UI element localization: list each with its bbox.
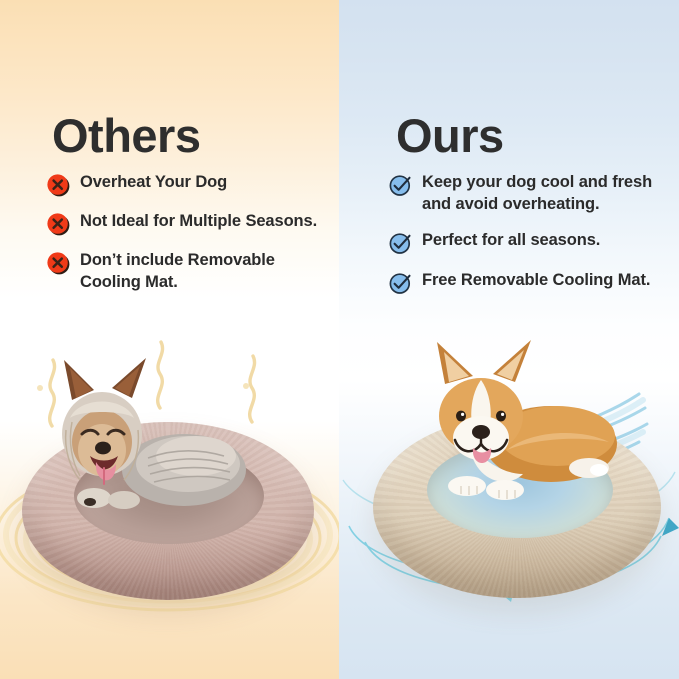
cross-circle-icon [46, 212, 71, 237]
ours-heading: Ours [396, 112, 504, 159]
list-item: Perfect for all seasons. [388, 230, 678, 256]
list-item-label: Don’t include Removable Cooling Mat. [80, 250, 336, 294]
others-illustration [0, 330, 340, 679]
list-item: Free Removable Cooling Mat. [388, 270, 678, 296]
cross-circle-icon [46, 173, 71, 198]
others-bullet-list: Overheat Your Dog Not Ideal for Multiple… [46, 172, 336, 307]
comparison-infographic: Others Overheat Your Dog Not Ideal fo [0, 0, 679, 679]
list-item: Don’t include Removable Cooling Mat. [46, 250, 336, 294]
check-circle-icon [388, 271, 413, 296]
check-circle-icon [388, 173, 413, 198]
list-item-label: Keep your dog cool and fresh and avoid o… [422, 172, 678, 216]
list-item: Keep your dog cool and fresh and avoid o… [388, 172, 678, 216]
corgi-dog [411, 334, 641, 534]
yorkshire-terrier-dog [36, 338, 266, 548]
list-item-label: Overheat Your Dog [80, 172, 227, 194]
list-item: Overheat Your Dog [46, 172, 336, 198]
list-item-label: Perfect for all seasons. [422, 230, 600, 252]
ours-bullet-list: Keep your dog cool and fresh and avoid o… [388, 172, 678, 310]
list-item-label: Free Removable Cooling Mat. [422, 270, 650, 292]
list-item-label: Not Ideal for Multiple Seasons. [80, 211, 317, 233]
others-heading: Others [52, 112, 201, 159]
cross-circle-icon [46, 251, 71, 276]
ours-illustration [339, 330, 679, 679]
check-circle-icon [388, 231, 413, 256]
list-item: Not Ideal for Multiple Seasons. [46, 211, 336, 237]
